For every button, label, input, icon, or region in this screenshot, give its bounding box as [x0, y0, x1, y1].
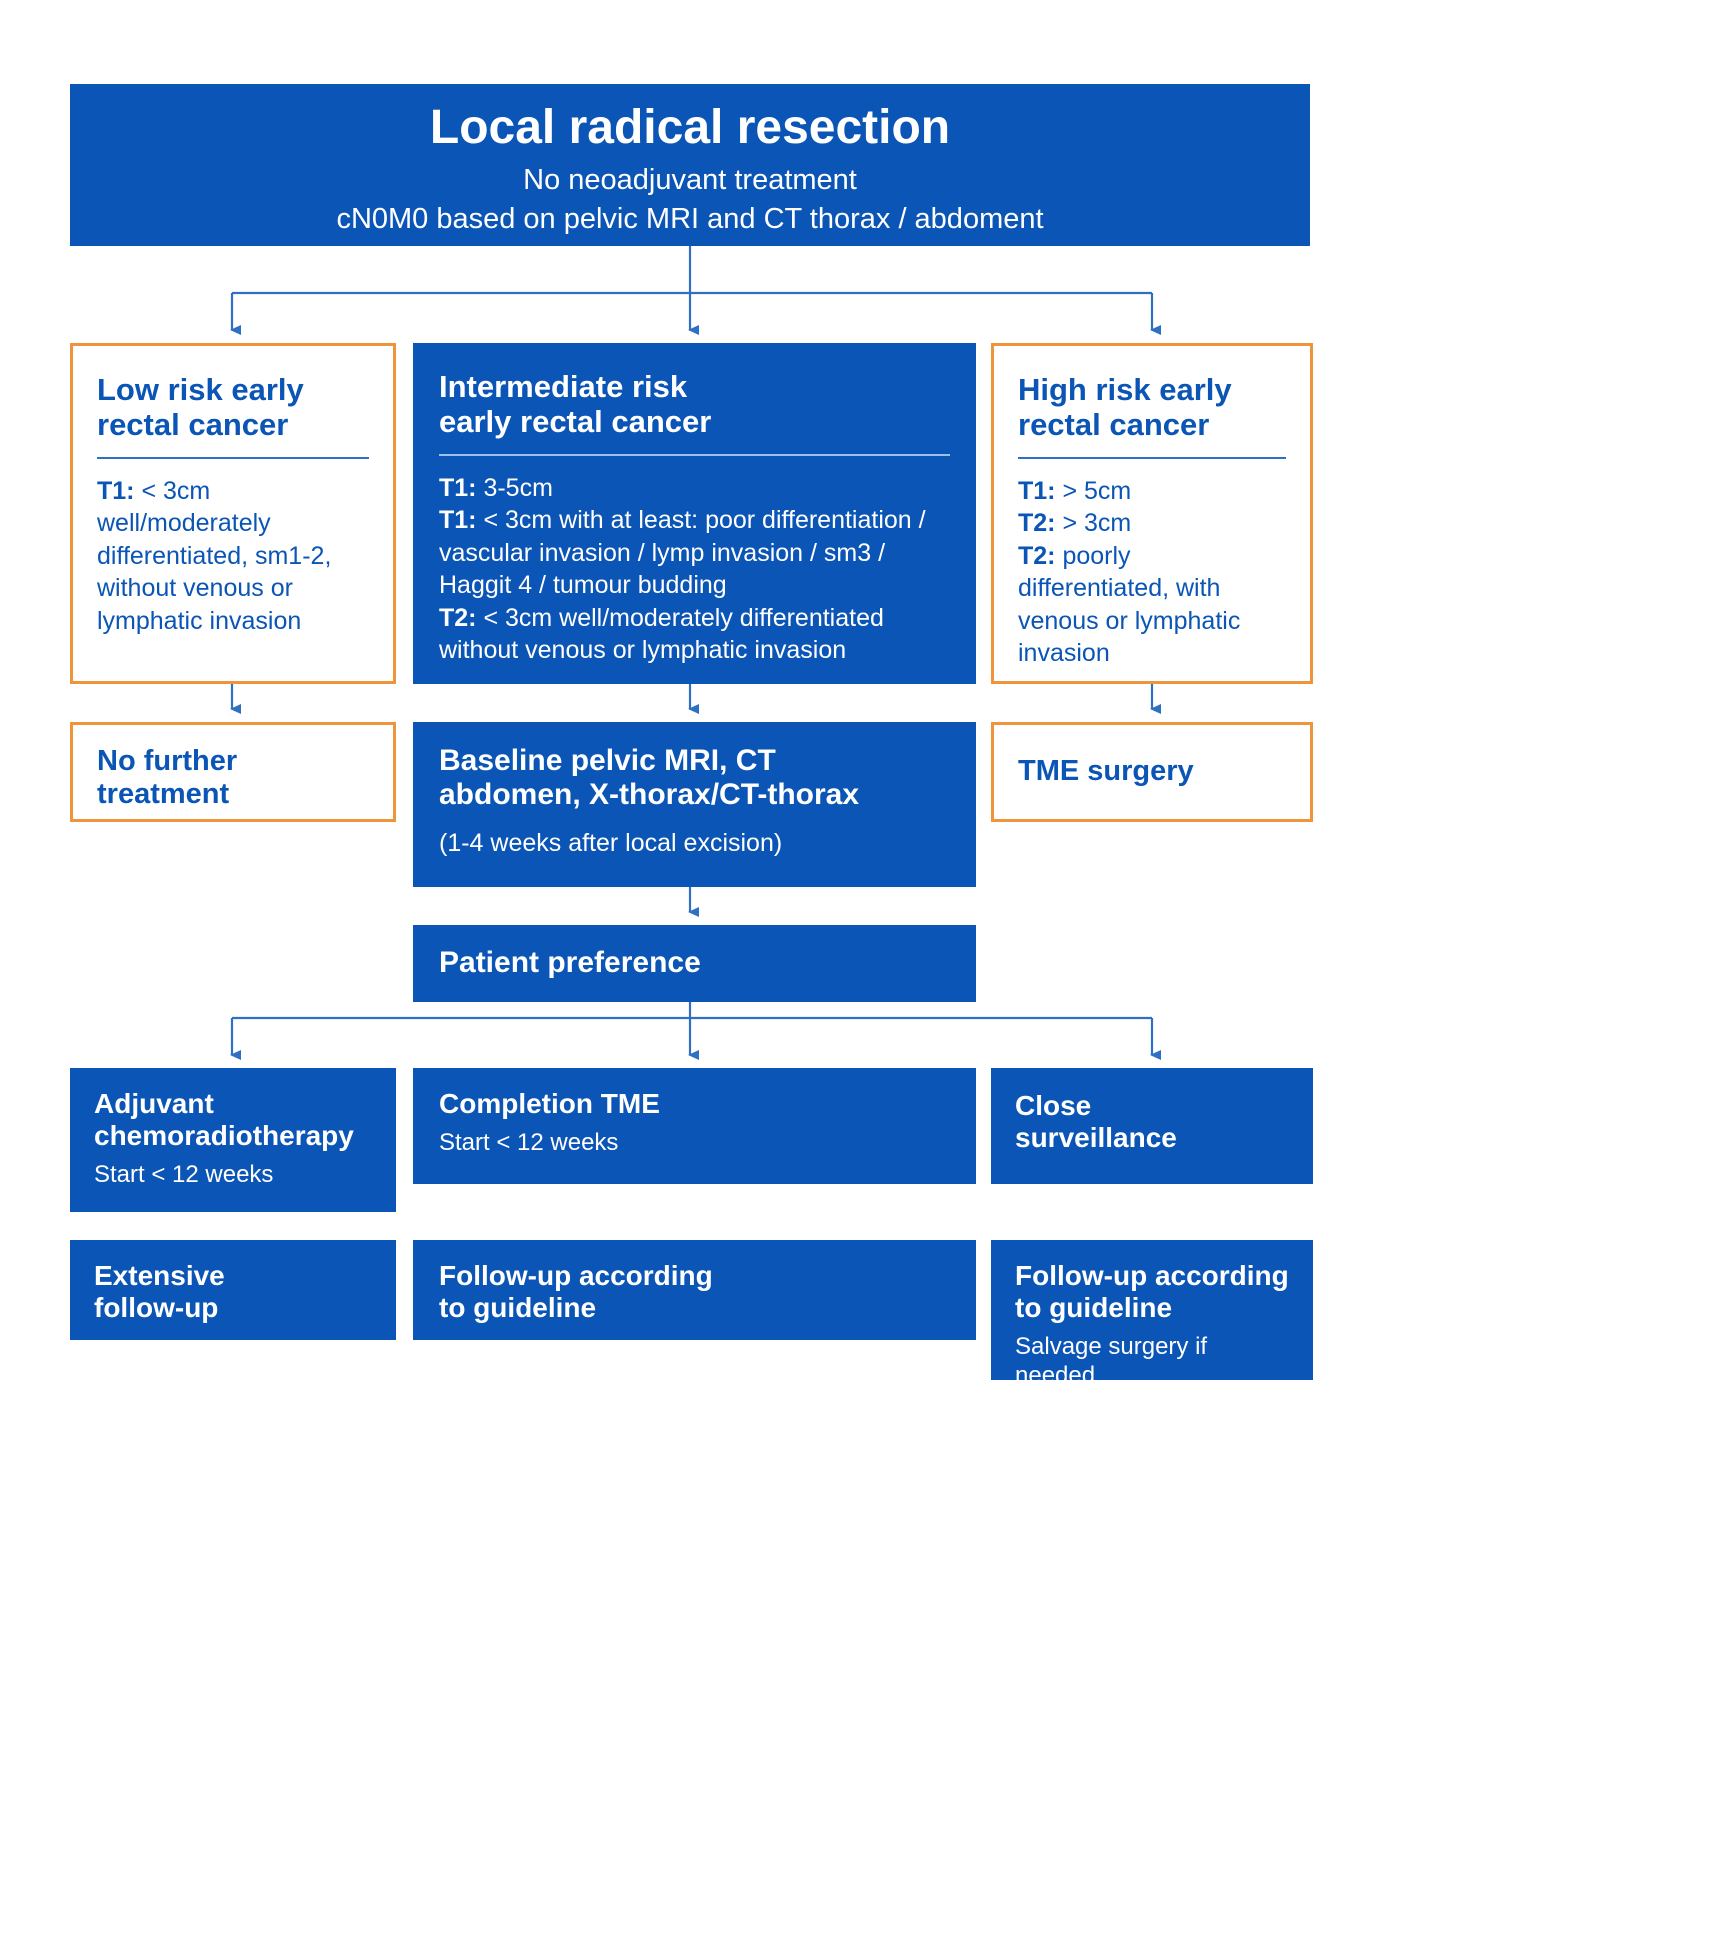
- baseline-staging-line2: abdomen, X-thorax/CT-thorax: [439, 778, 950, 812]
- header-local-radical-resection: Local radical resection No neoadjuvant t…: [70, 84, 1310, 246]
- followup-guideline-salvage[interactable]: Follow-up according to guideline Salvage…: [991, 1240, 1313, 1380]
- followup-guideline-line1: Follow-up according: [439, 1260, 950, 1292]
- criterion-label: T2:: [1018, 509, 1056, 537]
- criterion-label: T1:: [439, 506, 477, 534]
- option-adjuvant-chemoradiotherapy[interactable]: Adjuvant chemoradiotherapy Start < 12 we…: [70, 1068, 396, 1212]
- outcome-no-further-treatment[interactable]: No further treatment: [70, 722, 396, 822]
- followup-salvage-line1: Follow-up according: [1015, 1260, 1289, 1292]
- followup-guideline-line2: to guideline: [439, 1292, 950, 1324]
- criterion-label: T2:: [439, 604, 477, 632]
- risk-low-criterion-1: T1: < 3cm well/moderately differentiated…: [97, 475, 369, 638]
- no-further-treatment-line1: No further: [97, 745, 369, 778]
- outcome-tme-surgery[interactable]: TME surgery: [991, 722, 1313, 822]
- risk-low-title-line2: rectal cancer: [97, 407, 369, 442]
- header-subtitle-2: cN0M0 based on pelvic MRI and CT thorax …: [90, 200, 1290, 239]
- criterion-text: 3-5cm: [477, 474, 553, 502]
- followup-salvage-sub: Salvage surgery if needed: [1015, 1332, 1289, 1391]
- option-completion-line1: Completion TME: [439, 1088, 950, 1120]
- risk-box-intermediate[interactable]: Intermediate risk early rectal cancer T1…: [413, 343, 976, 684]
- option-close-line1: Close: [1015, 1090, 1289, 1122]
- option-completion-sub: Start < 12 weeks: [439, 1128, 950, 1157]
- risk-box-high[interactable]: High risk early rectal cancer T1: > 5cm …: [991, 343, 1313, 684]
- criterion-label: T1:: [97, 477, 135, 505]
- risk-intermediate-title-line2: early rectal cancer: [439, 404, 950, 439]
- step-baseline-staging[interactable]: Baseline pelvic MRI, CT abdomen, X-thora…: [413, 722, 976, 887]
- option-adjuvant-sub: Start < 12 weeks: [94, 1160, 372, 1189]
- decision-patient-preference[interactable]: Patient preference: [413, 925, 976, 1002]
- criterion-text: > 5cm: [1056, 477, 1132, 505]
- criterion-label: T2:: [1018, 542, 1056, 570]
- baseline-staging-line1: Baseline pelvic MRI, CT: [439, 744, 950, 778]
- criterion-label: T1:: [1018, 477, 1056, 505]
- divider: [1018, 457, 1286, 459]
- baseline-staging-note: (1-4 weeks after local excision): [439, 828, 950, 859]
- followup-guideline[interactable]: Follow-up according to guideline: [413, 1240, 976, 1340]
- option-close-line2: surveillance: [1015, 1122, 1289, 1154]
- risk-intermediate-criterion-1: T1: 3-5cm: [439, 472, 950, 505]
- followup-extensive[interactable]: Extensive follow-up: [70, 1240, 396, 1340]
- risk-high-criterion-1: T1: > 5cm: [1018, 475, 1286, 508]
- risk-high-title-line2: rectal cancer: [1018, 407, 1286, 442]
- no-further-treatment-line2: treatment: [97, 778, 369, 811]
- risk-high-criterion-3: T2: poorly differentiated, with venous o…: [1018, 540, 1286, 670]
- divider: [97, 457, 369, 459]
- option-close-surveillance[interactable]: Close surveillance: [991, 1068, 1313, 1184]
- divider: [439, 454, 950, 456]
- risk-intermediate-title-line1: Intermediate risk: [439, 369, 950, 404]
- risk-high-title-line1: High risk early: [1018, 372, 1286, 407]
- patient-preference-label: Patient preference: [439, 946, 701, 980]
- risk-box-low[interactable]: Low risk early rectal cancer T1: < 3cm w…: [70, 343, 396, 684]
- followup-extensive-line1: Extensive: [94, 1260, 372, 1292]
- flowchart-canvas: Local radical resection No neoadjuvant t…: [0, 0, 1709, 1945]
- risk-intermediate-criterion-3: T2: < 3cm well/moderately differentiated…: [439, 602, 950, 667]
- risk-high-criterion-2: T2: > 3cm: [1018, 507, 1286, 540]
- risk-intermediate-criterion-2: T1: < 3cm with at least: poor differenti…: [439, 504, 950, 602]
- criterion-text: > 3cm: [1056, 509, 1132, 537]
- criterion-label: T1:: [439, 474, 477, 502]
- option-adjuvant-line2: chemoradiotherapy: [94, 1120, 372, 1152]
- risk-low-title-line1: Low risk early: [97, 372, 369, 407]
- page-title: Local radical resection: [90, 100, 1290, 155]
- criterion-text: < 3cm with at least: poor differentiatio…: [439, 506, 926, 599]
- followup-extensive-line2: follow-up: [94, 1292, 372, 1324]
- option-adjuvant-line1: Adjuvant: [94, 1088, 372, 1120]
- criterion-text: < 3cm well/moderately differentiated wit…: [439, 604, 884, 665]
- followup-salvage-line2: to guideline: [1015, 1292, 1289, 1324]
- header-subtitle-1: No neoadjuvant treatment: [90, 161, 1290, 200]
- option-completion-tme[interactable]: Completion TME Start < 12 weeks: [413, 1068, 976, 1184]
- tme-surgery-label: TME surgery: [1018, 755, 1194, 788]
